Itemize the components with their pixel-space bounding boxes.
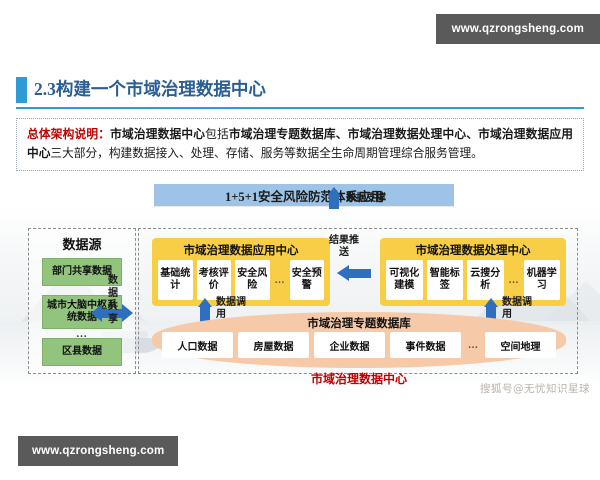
watermark-top-text: www.qzrongsheng.com — [452, 23, 584, 35]
result-push-arrow-left-icon — [337, 265, 371, 281]
processing-items-ellipsis: … — [508, 260, 520, 300]
database-items-ellipsis: … — [466, 332, 480, 358]
thematic-database-title: 市域治理专题数据库 — [152, 315, 566, 331]
data-support-arrow-up-icon — [327, 187, 341, 209]
application-center-card: 市域治理数据应用中心 基础统计 考核评价 安全风险 … 安全预警 — [152, 238, 330, 306]
description-segment-4: 三大部分，构建数据接入、处理、存储、服务等数据全生命周期管理综合服务管理。 — [50, 147, 482, 160]
title-underline — [16, 107, 584, 109]
data-share-label: 数据共享 — [104, 274, 122, 326]
processing-center-title: 市域治理数据处理中心 — [380, 242, 566, 258]
description-lead: 总体架构说明： — [27, 128, 110, 141]
database-item-enterprise[interactable]: 企业数据 — [314, 332, 385, 358]
database-item-spatial-geography[interactable]: 空间地理 — [485, 332, 556, 358]
result-push-label: 结果推送 — [329, 235, 359, 259]
application-item-safety-warning[interactable]: 安全预警 — [290, 260, 325, 300]
data-source-title: 数据源 — [28, 234, 136, 253]
data-source-item-district[interactable]: 区县数据 — [42, 338, 122, 366]
processing-item-visual-modeling[interactable]: 可视化建模 — [386, 260, 423, 300]
description-segment-2: 包括 — [205, 128, 229, 141]
database-item-event[interactable]: 事件数据 — [390, 332, 461, 358]
watermark-faint-text: 搜狐号@无忧知识星球 — [480, 381, 590, 396]
watermark-top: www.qzrongsheng.com — [436, 14, 600, 44]
processing-item-machine-learning[interactable]: 机器学习 — [524, 260, 561, 300]
application-item-assessment[interactable]: 考核评价 — [197, 260, 232, 300]
page-title: 2.3构建一个市域治理数据中心 — [16, 76, 584, 110]
database-item-housing[interactable]: 房屋数据 — [238, 332, 309, 358]
application-item-basic-stats[interactable]: 基础统计 — [158, 260, 193, 300]
processing-center-card: 市域治理数据处理中心 可视化建模 智能标签 云搜分析 … 机器学习 — [380, 238, 566, 306]
processing-item-cloud-search[interactable]: 云搜分析 — [467, 260, 504, 300]
page-title-text: 2.3构建一个市域治理数据中心 — [34, 76, 266, 103]
processing-item-smart-tagging[interactable]: 智能标签 — [427, 260, 464, 300]
watermark-bottom-text: www.qzrongsheng.com — [32, 445, 164, 457]
description-box: 总体架构说明：市域治理数据中心包括市域治理专题数据库、市域治理数据处理中心、市域… — [16, 118, 584, 171]
architecture-diagram: 1+5+1安全风险防范体系应用 数据支撑 数据源 部门共享数据 城市大脑中枢系统… — [0, 182, 600, 387]
watermark-bottom: www.qzrongsheng.com — [18, 436, 178, 466]
application-items-ellipsis: … — [274, 260, 286, 300]
application-center-title: 市域治理数据应用中心 — [152, 242, 330, 258]
thematic-database-items: 人口数据 房屋数据 企业数据 事件数据 … 空间地理 — [162, 332, 556, 358]
description-segment-1: 市域治理数据中心 — [110, 128, 205, 141]
top-banner: 1+5+1安全风险防范体系应用 — [154, 184, 454, 206]
data-support-label: 数据支撑 — [346, 193, 386, 205]
title-accent-bar — [16, 77, 27, 103]
database-item-population[interactable]: 人口数据 — [162, 332, 233, 358]
application-item-safety-risk[interactable]: 安全风险 — [235, 260, 270, 300]
